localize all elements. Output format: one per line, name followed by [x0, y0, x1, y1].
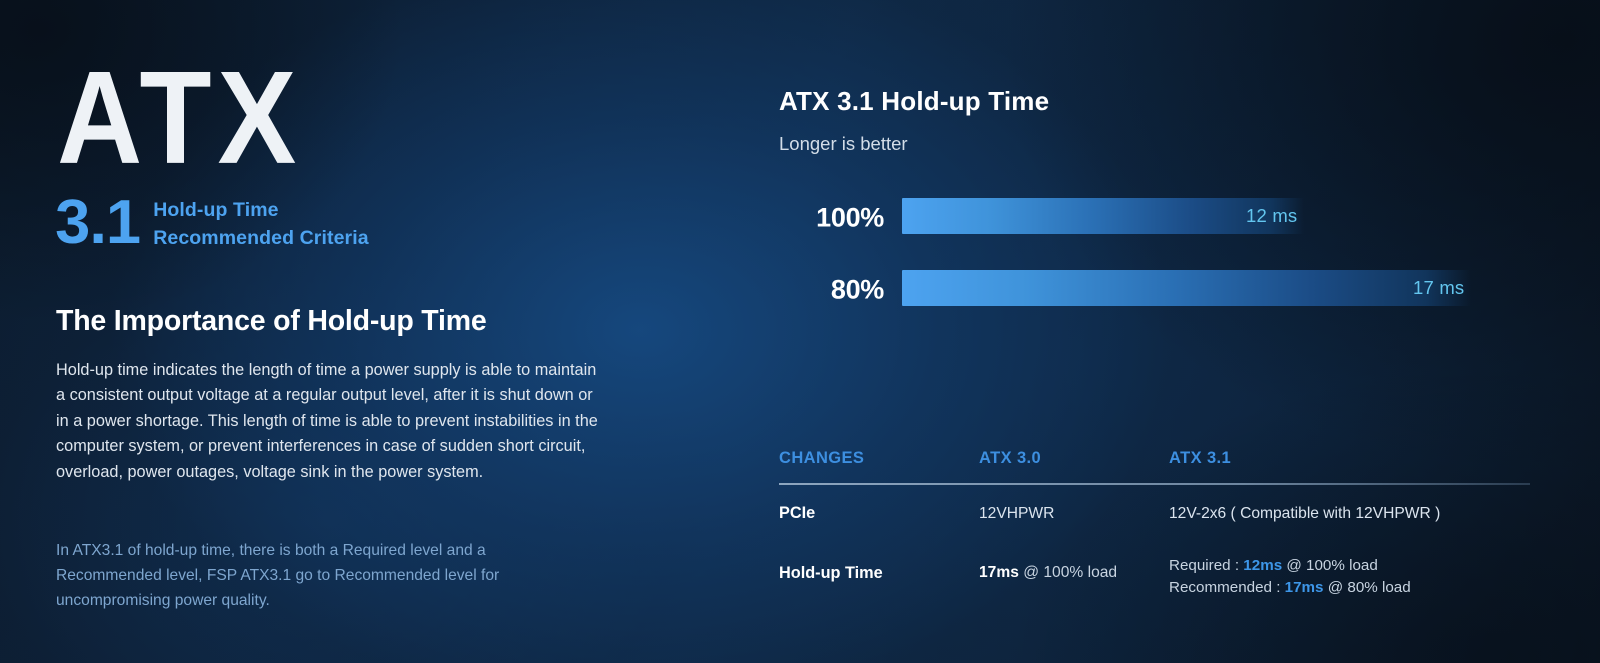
holdup-atx31-required-line: Required : 12ms @ 100% load [1169, 555, 1411, 577]
chart-title: ATX 3.1 Hold-up Time [779, 86, 1049, 117]
atx-logo-wordmark: ATX [57, 52, 302, 184]
bar-fill-100 [902, 198, 1304, 234]
table-header-row: CHANGES ATX 3.0 ATX 3.1 [779, 440, 1539, 482]
chart-subtitle: Longer is better [779, 133, 908, 155]
version-subtitle-line-1: Hold-up Time [153, 196, 368, 224]
body-paragraph: Hold-up time indicates the length of tim… [56, 358, 608, 485]
infographic-root: ATX 3.1 Hold-up Time Recommended Criteri… [0, 0, 1600, 663]
version-subtitle: Hold-up Time Recommended Criteria [153, 193, 368, 253]
bar-track-100: 12 ms [902, 198, 1538, 234]
holdup-required-prefix: Required : [1169, 557, 1243, 574]
holdup-recommended-suffix: @ 80% load [1324, 579, 1411, 596]
version-number: 3.1 [55, 196, 140, 249]
bar-value-80: 17 ms [1413, 277, 1464, 299]
bar-label-100: 100% [779, 203, 884, 234]
cell-pcie-atx31: 12V-2x6 ( Compatible with 12VHPWR ) [1169, 505, 1440, 523]
bar-track-80: 17 ms [902, 270, 1538, 306]
right-panel: ATX 3.1 Hold-up Time Longer is better 10… [700, 0, 1600, 663]
holdup-atx30-value: 17ms [979, 564, 1019, 581]
table-row-holdup: Hold-up Time 17ms @ 100% load Required :… [779, 532, 1539, 594]
table-header-atx30: ATX 3.0 [979, 449, 1041, 468]
cell-holdup-atx31: Required : 12ms @ 100% load Recommended … [1169, 555, 1411, 598]
note-paragraph: In ATX3.1 of hold-up time, there is both… [56, 538, 548, 614]
table-row-pcie: PCIe 12VHPWR 12V-2x6 ( Compatible with 1… [779, 482, 1539, 532]
version-block: 3.1 Hold-up Time Recommended Criteria [56, 193, 369, 253]
holdup-required-value: 12ms [1243, 557, 1282, 574]
holdup-recommended-value: 17ms [1285, 579, 1324, 596]
bar-fill-80 [902, 270, 1471, 306]
holdup-atx31-recommended-line: Recommended : 17ms @ 80% load [1169, 577, 1411, 599]
bar-row-80: 80% 17 ms [779, 270, 1539, 310]
cell-holdup-name: Hold-up Time [779, 564, 883, 583]
holdup-recommended-prefix: Recommended : [1169, 579, 1285, 596]
bar-row-100: 100% 12 ms [779, 198, 1539, 238]
table-header-changes: CHANGES [779, 449, 864, 468]
section-title: The Importance of Hold-up Time [56, 305, 487, 338]
left-panel: ATX 3.1 Hold-up Time Recommended Criteri… [0, 0, 700, 663]
cell-pcie-name: PCIe [779, 504, 815, 523]
bar-value-100: 12 ms [1246, 205, 1297, 227]
table-header-atx31: ATX 3.1 [1169, 449, 1231, 468]
cell-pcie-atx30: 12VHPWR [979, 505, 1054, 523]
bar-label-80: 80% [779, 275, 884, 306]
version-subtitle-line-2: Recommended Criteria [153, 224, 368, 252]
holdup-atx30-rest: @ 100% load [1019, 564, 1117, 581]
comparison-table: CHANGES ATX 3.0 ATX 3.1 PCIe 12VHPWR 12V… [779, 440, 1539, 594]
holdup-required-suffix: @ 100% load [1282, 557, 1378, 574]
cell-holdup-atx30: 17ms @ 100% load [979, 564, 1117, 582]
